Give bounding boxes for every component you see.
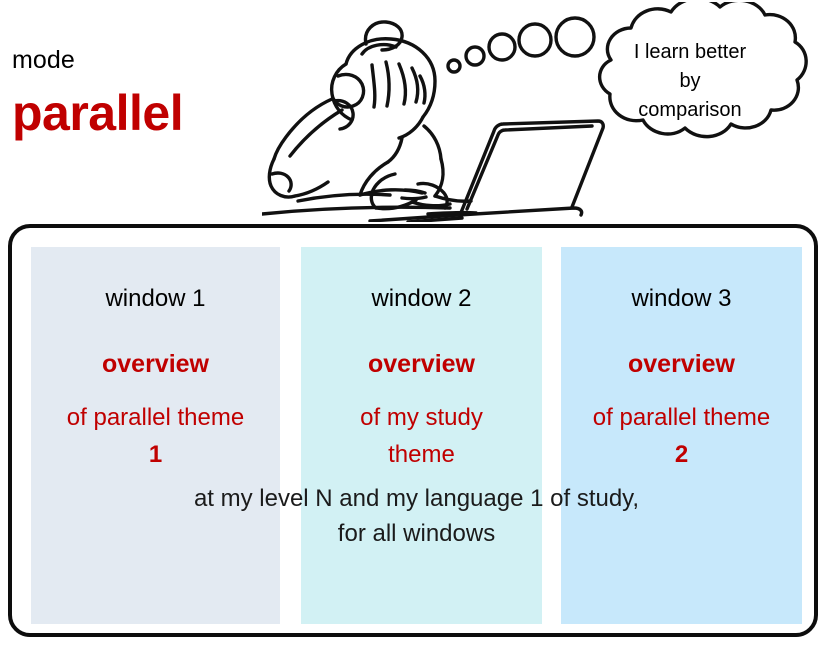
window-panel-2-title: window 2 [301,285,542,313]
thought-dot-3 [489,34,515,60]
thought-dot-5 [556,18,594,56]
hand-right-fingers [412,202,450,206]
window-panel-3-subtitle: of parallel theme 2 [561,399,802,473]
window-panel-2[interactable]: window 2 overview of my study theme [301,247,542,624]
window-panel-1-overview: overview [31,350,280,379]
window-panel-3-sub-line: of parallel theme [561,399,802,436]
desk-edge-path [262,207,450,214]
window-panel-1-sub-line: of parallel theme [31,399,280,436]
window-panel-2-sub-line: of my study [301,399,542,436]
windows-frame: window 1 overview of parallel theme 1 wi… [8,224,818,637]
thought-cloud-path [600,2,807,137]
left-thumb-path [272,173,291,191]
hair-strand-1 [372,65,375,107]
left-arm-inner [290,110,342,156]
header-area: mode parallel [0,0,828,222]
laptop-screen-path [460,121,603,215]
window-panel-1-title: window 1 [31,285,280,313]
neck-path [388,138,402,162]
hair-strand-2 [386,62,389,106]
window-panel-1-sub-number: 1 [31,436,280,473]
window-panel-3-sub-number: 2 [561,436,802,473]
window-panel-1-subtitle: of parallel theme 1 [31,399,280,473]
student-at-laptop-illustration [262,2,828,222]
left-sleeve-cuff [269,159,295,197]
window-panel-3-overview: overview [561,350,802,379]
window-panel-2-subtitle: of my study theme [301,399,542,473]
thought-dot-2 [466,47,484,65]
window-panel-2-sub-number: theme [301,436,542,473]
mode-label: mode [12,46,75,74]
shoulder-right-path [424,126,441,159]
hair-strand-3 [399,64,405,104]
thought-dot-1 [448,60,460,72]
window-panel-2-overview: overview [301,350,542,379]
thought-dot-4 [519,24,551,56]
head-right-path [399,117,423,138]
mode-value: parallel [12,84,183,142]
hair-strand-5 [420,76,425,103]
hair-strand-4 [412,68,418,102]
laptop-screen-inner-path [467,126,592,209]
window-panel-3-title: window 3 [561,285,802,313]
laptop-trackpad-path [428,213,476,214]
left-hand-path [295,182,328,196]
window-panel-3[interactable]: window 3 overview of parallel theme 2 [561,247,802,624]
left-sleeve-upper [274,99,332,159]
window-panel-1[interactable]: window 1 overview of parallel theme 1 [31,247,280,624]
desk-line-path [298,194,390,201]
finger-line-1 [402,197,426,199]
